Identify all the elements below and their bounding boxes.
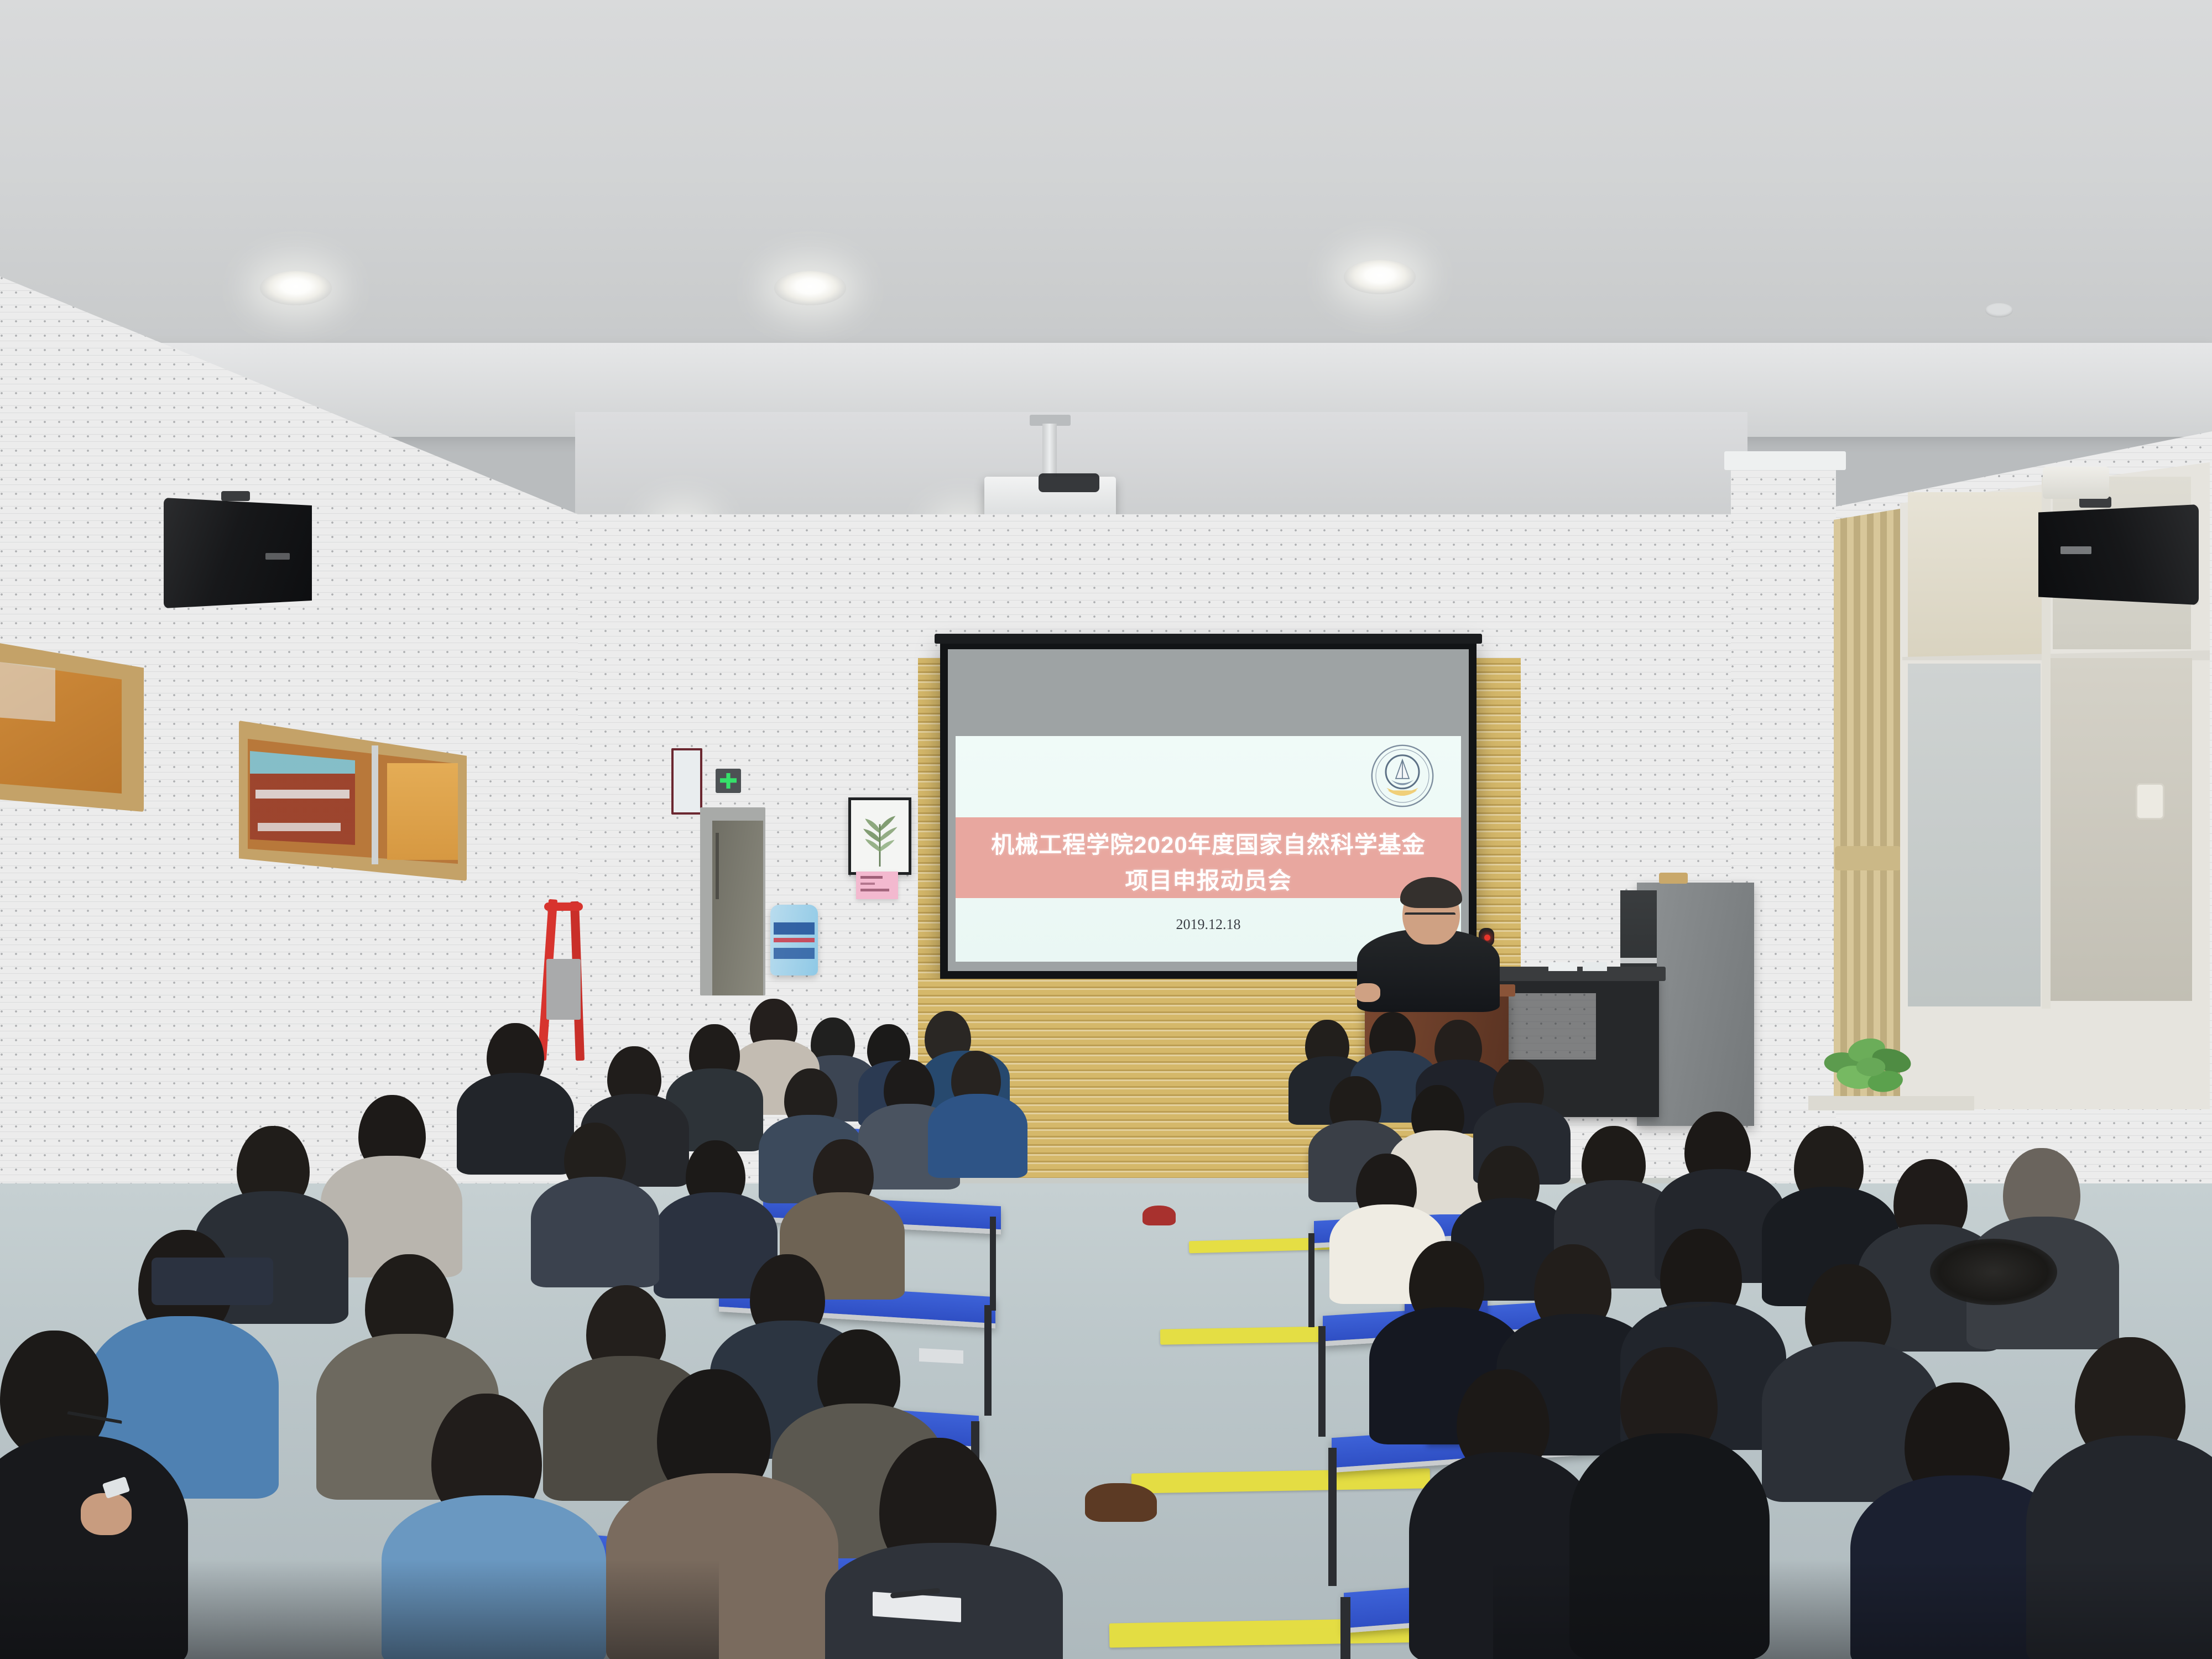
column-capital [1724,451,1846,470]
wall-notice-board [671,748,702,815]
presentation-slide: 机械工程学院2020年度国家自然科学基金 项目申报动员会 2019.12.18 [956,736,1461,961]
presenter-hand [1355,983,1380,1002]
speaker-logo-right [2060,546,2091,554]
step-ladder [531,899,597,1065]
slide-title-line2: 项目申报动员会 [956,862,1461,896]
av-paper [1548,962,1577,971]
ceiling-downlight [260,271,332,305]
window-poster-text-row [255,790,349,799]
presenter-glasses [1405,912,1455,921]
cabinet-shelf-divider [1620,958,1657,963]
hand-holding-phone [81,1493,132,1535]
curtain-left-panel [1834,509,1900,1106]
pink-notice-card [856,872,898,899]
lecture-hall-photo: 机械工程学院2020年度国家自然科学基金 项目申报动员会 2019.12.18 [0,0,2212,1659]
window-pane-upper [1908,492,2046,658]
wall-speaker-left [164,498,312,608]
ceiling-downlight [1344,260,1416,294]
audience-body [531,1177,659,1287]
ceiling-downlight [774,271,846,305]
exit-sign [716,769,741,793]
foreground-shadow-right [1493,1559,2212,1659]
bag-on-desk [152,1258,273,1305]
shoe [1085,1483,1157,1522]
screen-roller-housing [935,634,1482,644]
desk-leg [1308,1233,1314,1327]
curtain-tieback [1835,846,1901,870]
window-interior-light [387,763,458,860]
projector-cable-bundle [1039,473,1099,492]
cabinet-top-object [1659,873,1688,884]
desk-leg [984,1305,992,1416]
paper-on-desk [919,1348,963,1364]
door-panel [712,821,763,995]
desk-leg [1340,1597,1350,1659]
foreground-shadow-left [0,1559,719,1659]
speaker-bracket-left [221,491,250,501]
slide-title-line1: 机械工程学院2020年度国家自然科学基金 [956,826,1461,860]
audience-body [928,1094,1027,1178]
window-poster-text-row [258,823,341,831]
desk-leg [1328,1448,1337,1586]
university-emblem-icon [1369,743,1436,809]
shoe [1142,1206,1176,1225]
window-pane-lower-left [1908,664,2041,1006]
desk-leg [1318,1326,1326,1437]
projection-screen: 机械工程学院2020年度国家自然科学基金 项目申报动员会 2019.12.18 [940,641,1477,979]
projection-screen-surface: 机械工程学院2020年度国家自然科学基金 项目申报动员会 2019.12.18 [948,649,1469,971]
desk-leg [990,1217,996,1311]
slide-date: 2019.12.18 [956,916,1461,933]
window-mullion-2 [372,745,378,864]
wall-speaker-right [2038,504,2199,605]
framed-botanical-print [848,797,911,875]
speaker-logo-left [265,553,290,560]
ceiling-soffit [575,412,1747,523]
fur-trim-hood [1930,1239,2057,1305]
window-pane-lower-right [2049,658,2192,1001]
wall-duct [2043,467,2109,499]
door-handle [716,833,719,899]
interior-window-reflection-1 [0,661,55,722]
windowsill [1808,1096,1974,1110]
av-paper [1583,962,1607,971]
rack-vent-panel [1496,993,1596,1060]
audience-body [457,1073,574,1175]
water-cooler-jug [770,905,818,975]
window-handle [2136,783,2164,820]
ceiling-smoke-detector [1985,303,2013,317]
microphone-led [1484,935,1490,941]
